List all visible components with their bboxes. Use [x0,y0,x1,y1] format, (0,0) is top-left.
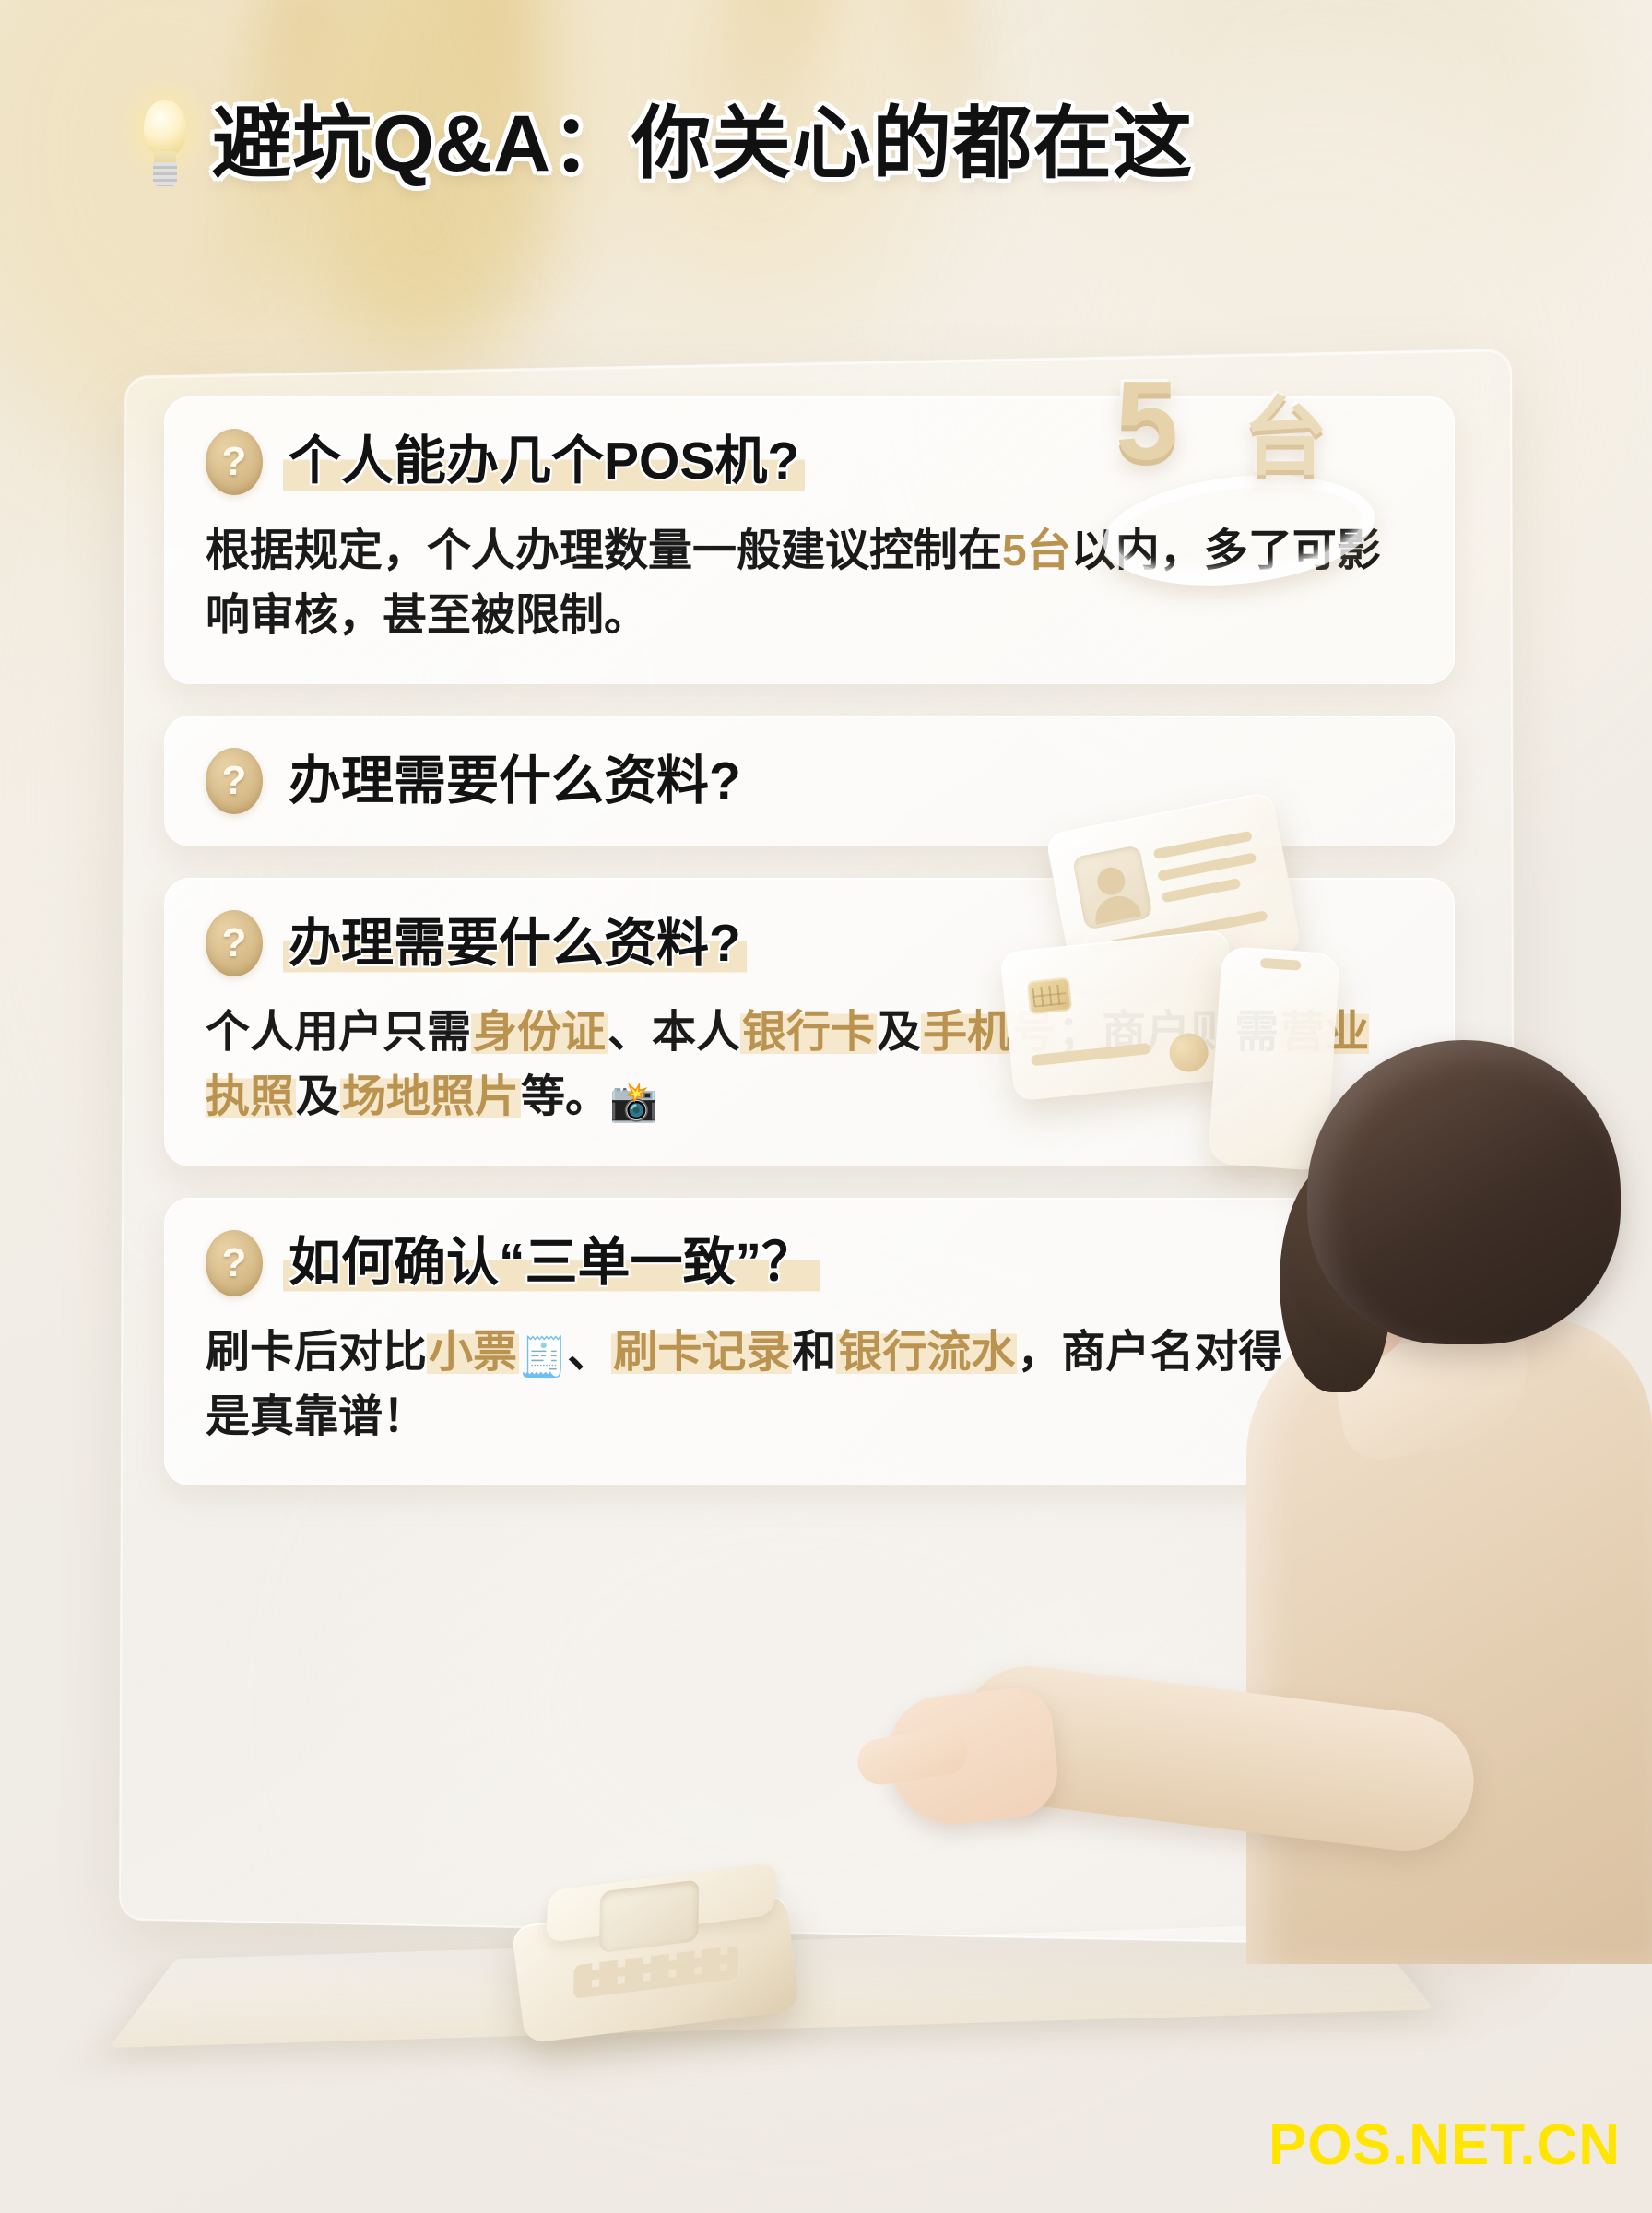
answer-text-run: 小票 [427,1328,519,1377]
site-watermark: POS.NET.CN [1268,2117,1621,2174]
answer-text-run: 和 [792,1328,836,1377]
answer-text-run: 刷卡后对比 [206,1328,427,1377]
question-row: ? 个人能办几个POS机? [206,429,1413,495]
question-row: ? 办理需要什么资料? [206,910,1413,976]
qa-card[interactable]: ? 个人能办几个POS机? 根据规定，个人办理数量一般建议控制在5台以内，多了可… [164,396,1455,684]
qa-card-list: ? 个人能办几个POS机? 根据规定，个人办理数量一般建议控制在5台以内，多了可… [164,396,1455,1517]
answer-text-run: 身份证 [471,1008,608,1057]
answer-text-run: 及 [877,1008,921,1057]
answer-text-run: 甚至被限制。 [383,591,648,640]
card-question: 如何确认“三单一致”？ [283,1232,820,1294]
question-mark-icon: ? [206,748,263,814]
qa-card[interactable]: ? 办理需要什么资料? 个人用户只需身份证、本人银行卡及手机号；商户则需营业执照… [164,878,1455,1166]
answer-text-run: 个人用户只需 [206,1008,471,1057]
inline-emoji: 📸 [609,1080,657,1123]
question-row: ? 办理需要什么资料? [206,748,1413,814]
answer-text-run: 般建议控制在 [737,527,1002,575]
question-mark-glyph: ? [222,761,247,801]
question-row: ? 如何确认“三单一致”？ [206,1230,1413,1296]
question-mark-icon: ? [206,429,263,495]
card-answer: 根据规定，个人办理数量一般建议控制在5台以内，多了可影响审核，甚至被限制。 [206,519,1413,648]
answer-text-run: 根据规定，个人办理数量一 [206,527,737,575]
lightbulb-icon [138,100,192,188]
page-header: 避坑Q&A：你关心的都在这 [138,100,1193,188]
question-mark-glyph: ? [222,442,247,482]
answer-text-run: 商户则需 [1102,1008,1279,1057]
question-mark-icon: ? [206,1230,263,1296]
card-question: 个人能办几个POS机? [283,431,805,492]
answer-text-run: ， [1017,1328,1061,1377]
inline-emoji: 🧾 [519,1335,567,1379]
qa-card[interactable]: ? 如何确认“三单一致”？ 刷卡后对比小票🧾、刷卡记录和银行流水，商户名对得上才… [164,1198,1455,1485]
card-answer: 个人用户只需身份证、本人银行卡及手机号；商户则需营业执照及场地照片等。📸 [206,1000,1413,1130]
answer-text-run: 银行卡 [740,1008,877,1057]
answer-text-run: 刷卡记录 [611,1328,792,1377]
answer-text-run: 、本人 [608,1008,740,1057]
answer-text-run: 手机号 [921,1008,1057,1057]
card-answer: 刷卡后对比小票🧾、刷卡记录和银行流水，商户名对得上才是真靠谱！ [206,1320,1413,1450]
question-mark-glyph: ? [222,923,247,964]
answer-text-run: 5台 [1002,527,1071,575]
answer-text-run: 银行流水 [836,1328,1017,1377]
card-question: 办理需要什么资料? [283,751,747,812]
question-mark-glyph: ? [222,1243,247,1284]
answer-text-run: 、 [567,1328,611,1377]
answer-text-run: 及 [296,1072,340,1121]
qa-card[interactable]: ? 办理需要什么资料? [164,716,1455,846]
answer-text-run: ； [1057,1008,1102,1057]
answer-text-run: 场地照片 [340,1072,521,1121]
answer-text-run: 等。 [521,1072,609,1121]
question-mark-icon: ? [206,910,263,976]
page-title: 避坑Q&A：你关心的都在这 [212,104,1193,183]
card-question: 办理需要什么资料? [283,913,747,975]
